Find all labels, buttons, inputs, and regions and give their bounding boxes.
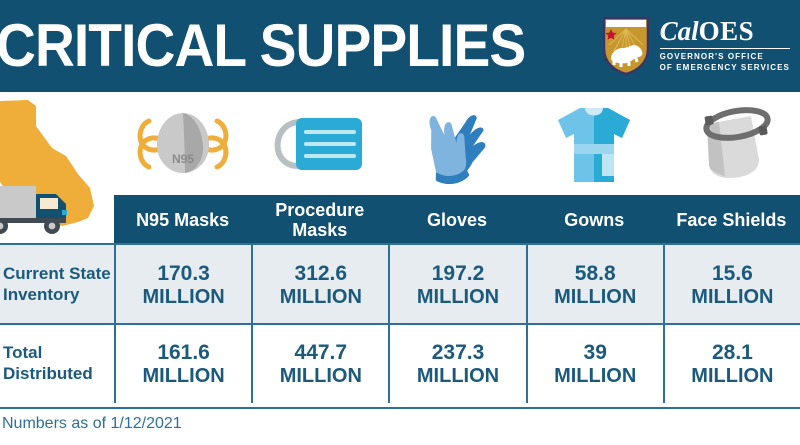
- cell-unit: MILLION: [554, 286, 636, 308]
- column-header-gowns: Gowns: [526, 195, 663, 245]
- cell-distributed-procedure-masks: 447.7 MILLION: [251, 325, 388, 403]
- logo-divider: [660, 48, 790, 49]
- row-label-current-state-inventory: Current State Inventory: [0, 245, 114, 325]
- cell-unit: MILLION: [280, 286, 362, 308]
- cell-unit: MILLION: [280, 365, 362, 387]
- cell-unit: MILLION: [417, 286, 499, 308]
- cell-distributed-n95-masks: 161.6 MILLION: [114, 325, 251, 403]
- cell-value: 58.8: [575, 262, 616, 286]
- column-header-n95-masks: N95 Masks: [114, 195, 251, 245]
- row-label-total-distributed: Total Distributed: [0, 325, 114, 403]
- svg-text:N95: N95: [171, 152, 193, 166]
- cell-unit: MILLION: [417, 365, 499, 387]
- cal-oes-shield-bear-icon: [601, 15, 651, 77]
- page-footer: Numbers as of 1/12/2021: [0, 412, 800, 445]
- footnote-date: Numbers as of 1/12/2021: [0, 412, 800, 433]
- gown-icon: [525, 92, 662, 195]
- cell-inventory-face-shields: 15.6 MILLION: [663, 245, 800, 325]
- logo-oes-text: OES: [699, 16, 755, 46]
- cell-inventory-procedure-masks: 312.6 MILLION: [251, 245, 388, 325]
- logo-subtitle-line1: GOVERNOR'S OFFICE: [660, 52, 790, 63]
- cell-value: 28.1: [712, 341, 753, 365]
- cell-unit: MILLION: [691, 286, 773, 308]
- cell-distributed-face-shields: 28.1 MILLION: [663, 325, 800, 403]
- table-rule-bottom: [0, 407, 800, 409]
- table-row: Current State Inventory 170.3 MILLION 31…: [0, 245, 800, 325]
- column-header-gloves: Gloves: [388, 195, 525, 245]
- cell-value: 312.6: [295, 262, 348, 286]
- cell-value: 15.6: [712, 262, 753, 286]
- cell-inventory-gloves: 197.2 MILLION: [388, 245, 525, 325]
- column-header-procedure-masks: Procedure Masks: [251, 195, 388, 245]
- logo-subtitle-line2: OF EMERGENCY SERVICES: [660, 63, 790, 74]
- face-shield-icon: [662, 92, 800, 195]
- procedure-mask-icon: [251, 92, 388, 195]
- gloves-icon: [388, 92, 525, 195]
- logo-wordmark: CalOES: [660, 18, 790, 45]
- supplies-table: N95 Masks Procedure Masks Gloves Gowns F…: [0, 195, 800, 409]
- logo-cal-text: Cal: [660, 16, 699, 46]
- supply-icon-strip: N95: [0, 92, 800, 195]
- cell-unit: MILLION: [554, 365, 636, 387]
- page-header: CRITICAL SUPPLIES: [0, 0, 800, 92]
- cell-value: 197.2: [432, 262, 485, 286]
- cell-distributed-gowns: 39 MILLION: [526, 325, 663, 403]
- cal-oes-logo: CalOES GOVERNOR'S OFFICE OF EMERGENCY SE…: [601, 15, 790, 77]
- n95-mask-icon: N95: [114, 92, 251, 195]
- table-header-row: N95 Masks Procedure Masks Gloves Gowns F…: [114, 195, 800, 245]
- delivery-truck-icon: [0, 180, 82, 238]
- cell-value: 170.3: [157, 262, 210, 286]
- cell-inventory-gowns: 58.8 MILLION: [526, 245, 663, 325]
- cell-value: 161.6: [157, 341, 210, 365]
- cell-unit: MILLION: [691, 365, 773, 387]
- cell-distributed-gloves: 237.3 MILLION: [388, 325, 525, 403]
- cell-unit: MILLION: [142, 365, 224, 387]
- column-header-face-shields: Face Shields: [663, 195, 800, 245]
- table-row: Total Distributed 161.6 MILLION 447.7 MI…: [0, 325, 800, 403]
- cell-value: 237.3: [432, 341, 485, 365]
- cell-value: 39: [584, 341, 607, 365]
- page-title: CRITICAL SUPPLIES: [0, 16, 525, 76]
- cell-inventory-n95-masks: 170.3 MILLION: [114, 245, 251, 325]
- cell-unit: MILLION: [142, 286, 224, 308]
- cell-value: 447.7: [295, 341, 348, 365]
- logo-subtitle: GOVERNOR'S OFFICE OF EMERGENCY SERVICES: [660, 52, 790, 74]
